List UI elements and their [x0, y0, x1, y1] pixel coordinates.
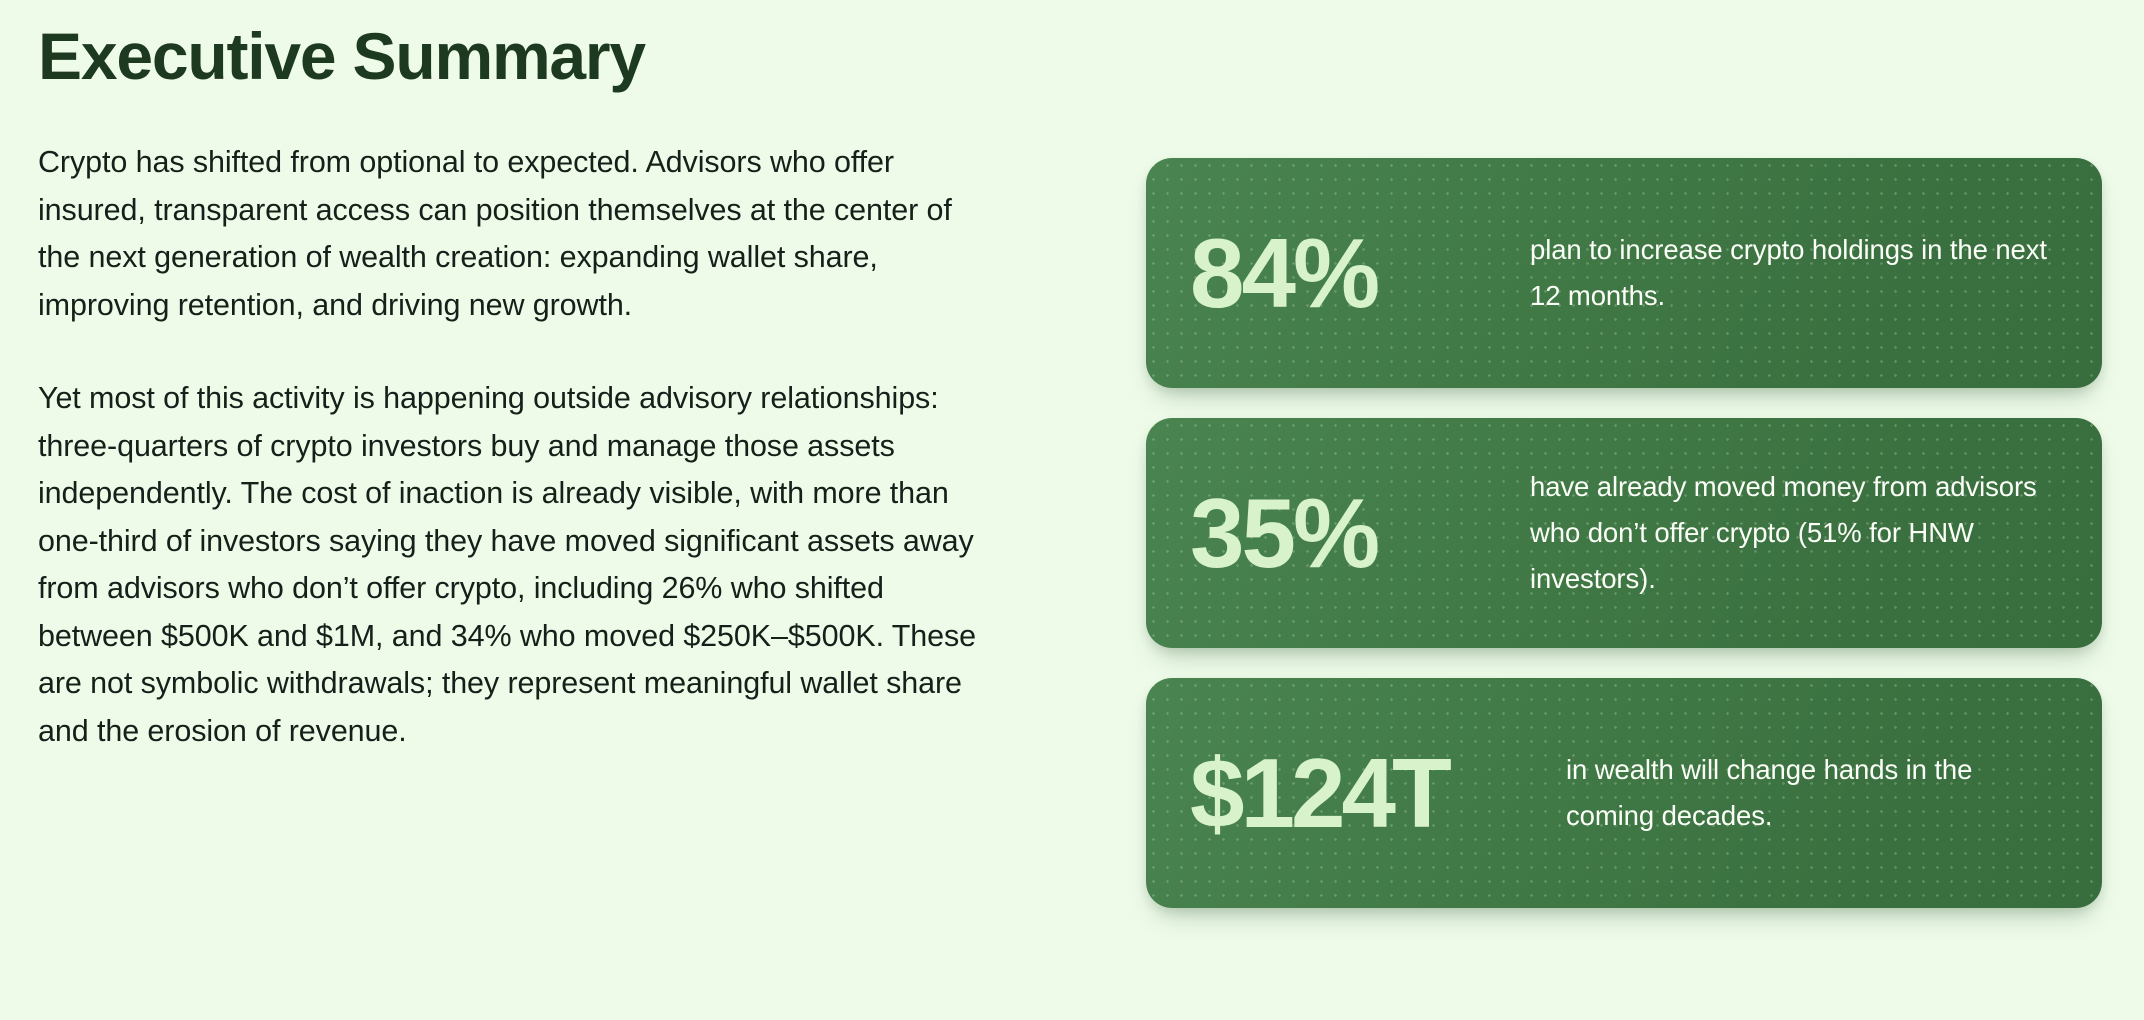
stat-card-list: 84% plan to increase crypto holdings in … [1146, 158, 2102, 908]
summary-paragraph-1: Crypto has shifted from optional to expe… [38, 139, 998, 329]
stat-card-content: 35% have already moved money from adviso… [1146, 464, 2102, 602]
page-title: Executive Summary [38, 22, 998, 91]
executive-summary-page: Executive Summary Crypto has shifted fro… [0, 0, 2144, 1020]
summary-text-column: Executive Summary Crypto has shifted fro… [38, 22, 998, 755]
stat-description: plan to increase crypto holdings in the … [1520, 227, 2062, 319]
stat-card-content: 84% plan to increase crypto holdings in … [1146, 224, 2102, 322]
stat-card: 35% have already moved money from adviso… [1146, 418, 2102, 648]
summary-body: Crypto has shifted from optional to expe… [38, 139, 998, 755]
stat-value: 35% [1190, 484, 1520, 582]
stat-value: $124T [1190, 744, 1556, 842]
stat-card: $124T in wealth will change hands in the… [1146, 678, 2102, 908]
stat-card: 84% plan to increase crypto holdings in … [1146, 158, 2102, 388]
stat-description: in wealth will change hands in the comin… [1556, 747, 2062, 839]
summary-paragraph-2: Yet most of this activity is happening o… [38, 375, 998, 755]
stat-card-content: $124T in wealth will change hands in the… [1146, 744, 2102, 842]
stat-description: have already moved money from advisors w… [1520, 464, 2062, 602]
stat-value: 84% [1190, 224, 1520, 322]
